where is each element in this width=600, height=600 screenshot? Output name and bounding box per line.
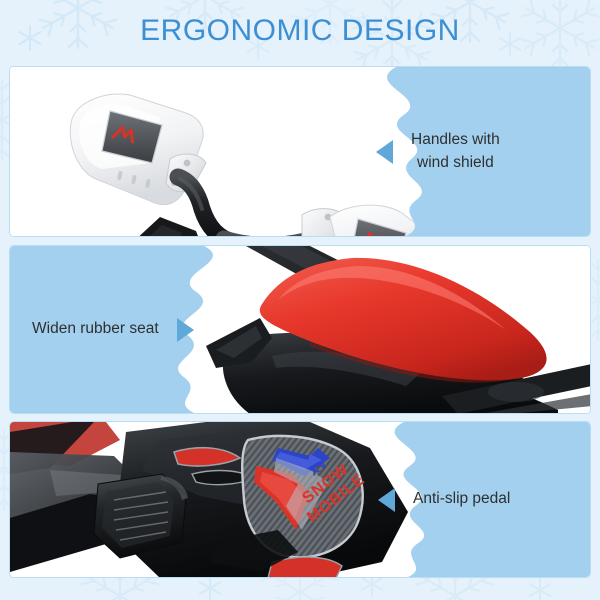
feature-panel-seat: Widen rubber seat — [9, 245, 591, 414]
feature-panel-pedal: XV SNOW MOBILE Anti-slip pedal — [9, 421, 591, 578]
arrow-left-icon — [378, 488, 395, 512]
caption-seat: Widen rubber seat — [10, 246, 240, 413]
arrow-left-icon — [376, 140, 393, 164]
arrow-right-icon — [177, 318, 194, 342]
page-title-container: ERGONOMIC DESIGN — [0, 0, 600, 62]
caption-text-seat: Widen rubber seat — [32, 318, 159, 340]
page-title: ERGONOMIC DESIGN — [140, 14, 460, 48]
caption-text-pedal: Anti-slip pedal — [413, 488, 510, 510]
feature-panel-handles: Handles with wind shield — [9, 66, 591, 237]
caption-handles: Handles with wind shield — [360, 67, 590, 236]
caption-text-handles: Handles with wind shield — [411, 129, 500, 174]
caption-pedal: Anti-slip pedal — [364, 422, 590, 577]
